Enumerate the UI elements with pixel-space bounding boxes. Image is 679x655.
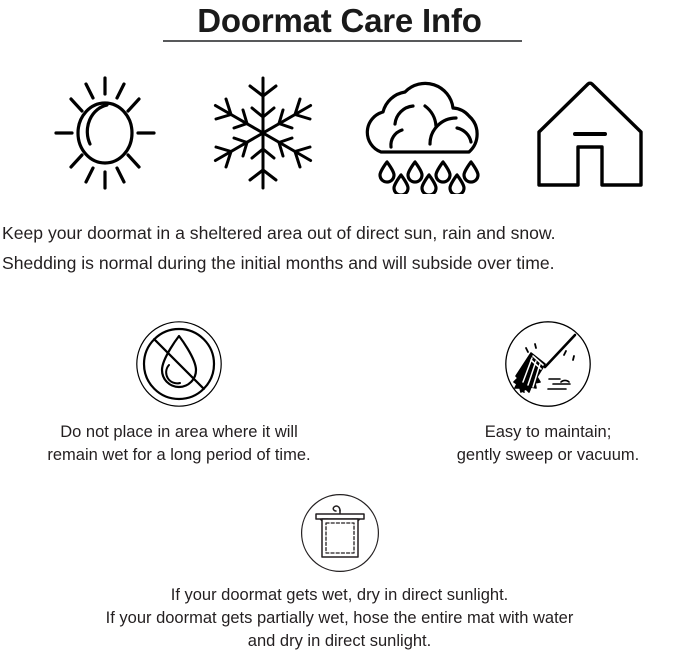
caption-line-3: and dry in direct sunlight. [0,630,679,653]
care-item-sweep: Easy to maintain; gently sweep or vacuum… [420,320,676,467]
care-item-sweep-caption: Easy to maintain; gently sweep or vacuum… [420,421,676,467]
snowflake-icon [213,72,313,194]
rain-cloud-icon [361,72,489,194]
house-icon [534,72,646,194]
care-item-no-water-caption: Do not place in area where it will remai… [14,421,344,467]
intro-line-1: Keep your doormat in a sheltered area ou… [2,218,679,248]
weather-cell-sun [40,72,170,197]
caption-line-2: If your doormat gets partially wet, hose… [0,607,679,630]
no-water-icon [135,320,223,408]
title-underline-rule [163,40,522,42]
caption-line-1: Easy to maintain; [420,421,676,444]
care-item-no-water: Do not place in area where it will remai… [14,320,344,467]
care-item-drip-dry: If your doormat gets wet, dry in direct … [0,493,679,653]
broom-sweep-icon [504,320,592,408]
intro-paragraph: Keep your doormat in a sheltered area ou… [0,218,679,278]
page-header: Doormat Care Info [0,0,679,40]
weather-icon-row [0,72,679,197]
weather-cell-rain-cloud [352,72,497,197]
caption-line-2: gently sweep or vacuum. [420,444,676,467]
intro-line-2: Shedding is normal during the initial mo… [2,248,679,278]
caption-line-1: Do not place in area where it will [14,421,344,444]
weather-cell-snowflake [200,72,325,197]
sun-icon [50,72,160,194]
caption-line-1: If your doormat gets wet, dry in direct … [0,584,679,607]
caption-line-2: remain wet for a long period of time. [14,444,344,467]
care-item-drip-dry-caption: If your doormat gets wet, dry in direct … [0,584,679,653]
weather-cell-house [520,72,660,197]
page-title: Doormat Care Info [0,0,679,40]
drip-dry-hanging-icon [300,493,380,573]
